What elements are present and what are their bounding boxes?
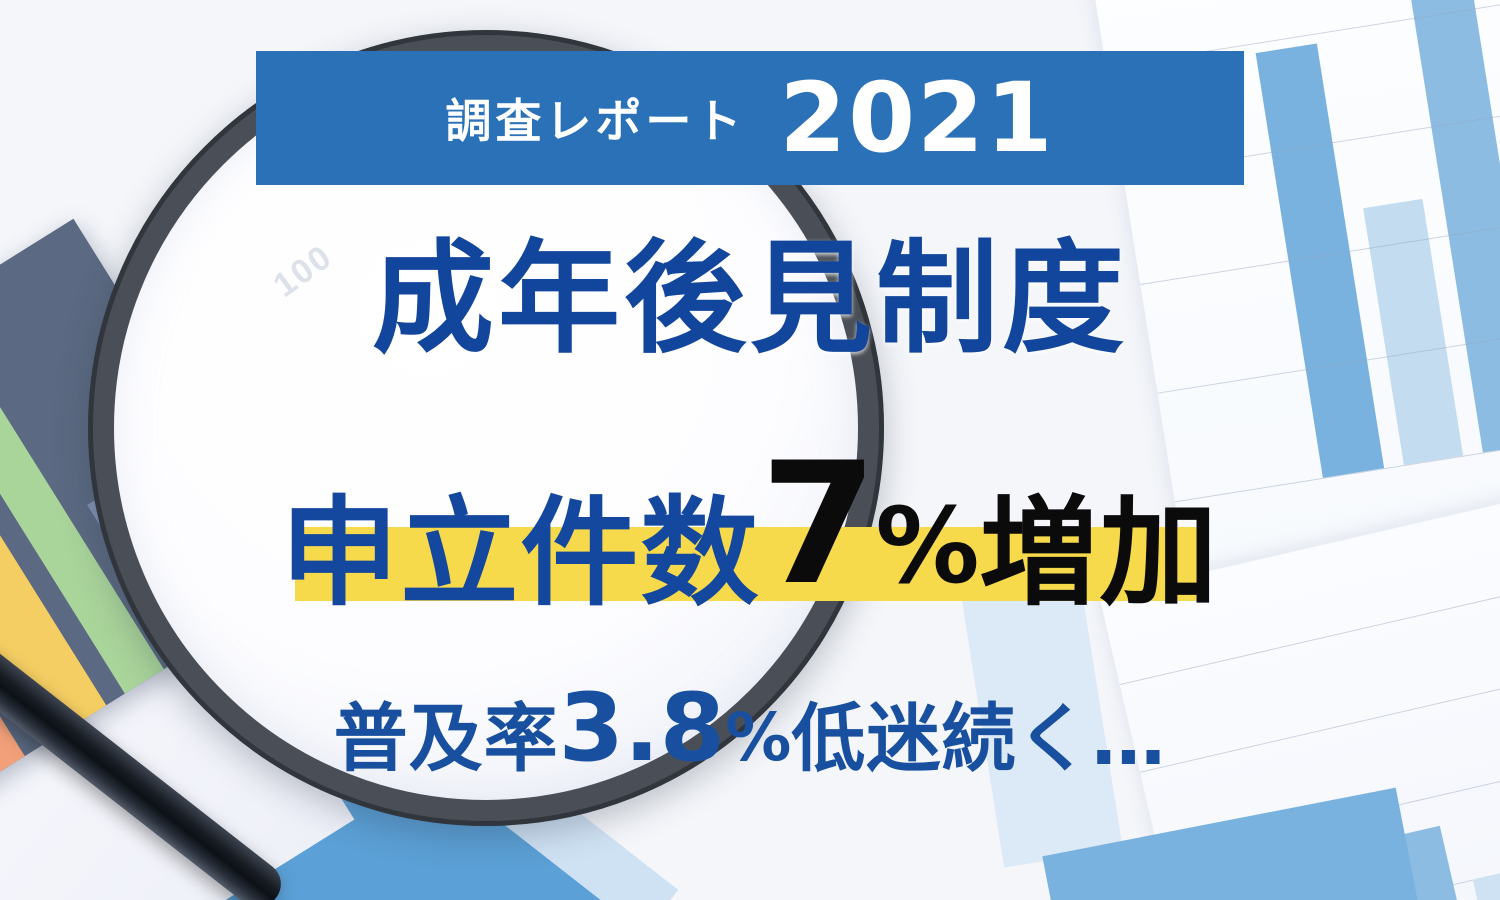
chart-bar — [1256, 43, 1385, 477]
report-banner: 調査レポート 2021 — [256, 51, 1244, 185]
chart-bar — [1473, 864, 1500, 900]
poster-canvas: 100 調査レポート 2021 成年後見制度 申立件数7%増加 普及率3.8%低… — [0, 0, 1500, 900]
chart-gridline — [1120, 545, 1500, 685]
banner-label: 調査レポート — [445, 85, 745, 151]
banner-year: 2021 — [779, 70, 1054, 166]
chart-gridline — [1140, 632, 1500, 772]
paper-wedge — [957, 552, 1122, 867]
